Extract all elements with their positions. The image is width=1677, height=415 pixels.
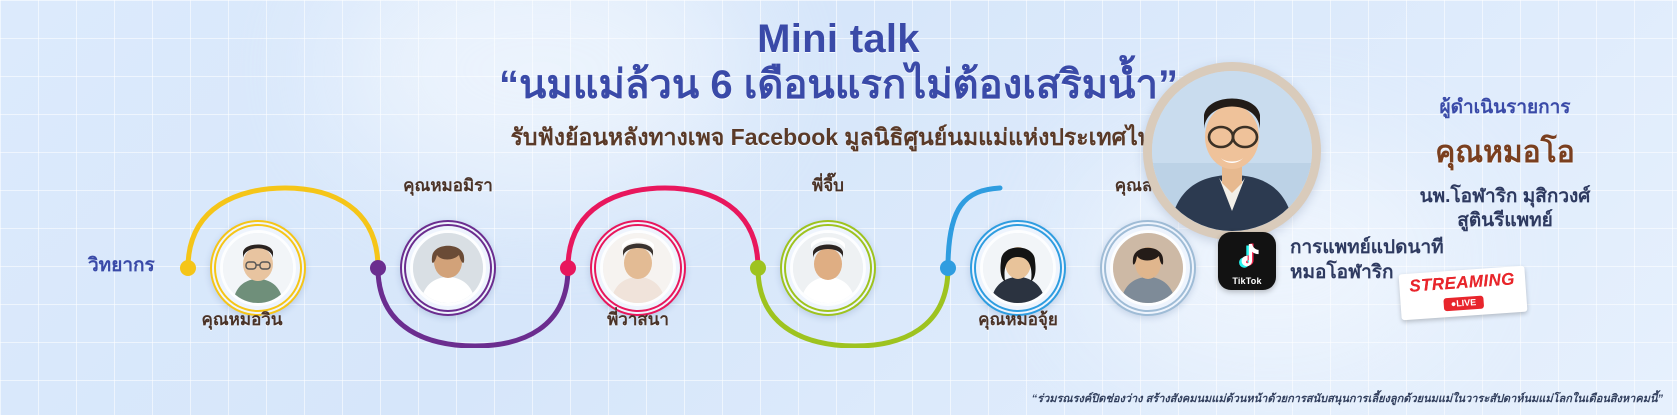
speaker-avatar-1 (220, 230, 296, 306)
event-banner: Mini talk “นมแม่ล้วน 6 เดือนแรกไม่ต้องเส… (0, 0, 1677, 415)
live-badge: ●LIVE (1443, 296, 1483, 312)
streaming-badge: STREAMING ●LIVE (1399, 266, 1528, 321)
social-channel-line1: การแพทย์แปดนาที (1290, 236, 1444, 261)
host-full-name: นพ.โอฬาริก มุสิกวงศ์ (1355, 185, 1655, 209)
host-avatar (1143, 62, 1321, 240)
speaker-avatar-2 (410, 230, 486, 306)
speaker-node-3[interactable] (590, 220, 686, 316)
portrait-icon (983, 233, 1053, 303)
speaker-node-6[interactable] (1100, 220, 1196, 316)
speaker-name-2: คุณหมอมิรา (348, 172, 548, 199)
portrait-icon (793, 233, 863, 303)
tiktok-label: TikTok (1232, 276, 1261, 286)
speaker-avatar-4 (790, 230, 866, 306)
tiktok-icon[interactable]: TikTok (1218, 232, 1276, 290)
title-main: Mini talk (0, 18, 1677, 60)
speaker-avatar-3 (600, 230, 676, 306)
host-portrait-icon (1152, 71, 1312, 231)
speaker-node-1[interactable] (210, 220, 306, 316)
tiktok-note-icon (1232, 242, 1262, 274)
speakers-timeline: วิทยากร (60, 178, 1090, 348)
banner-footnote: “ร่วมรณรงค์ปิดช่องว่าง สร้างสังคมนมแม่ด้… (830, 389, 1663, 407)
portrait-icon (223, 233, 293, 303)
speaker-avatar-5 (980, 230, 1056, 306)
host-info: ผู้ดำเนินรายการ คุณหมอโอ นพ.โอฬาริก มุสิ… (1355, 92, 1655, 234)
speaker-name-5: คุณหมอจุ้ย (918, 306, 1118, 333)
portrait-icon (1113, 233, 1183, 303)
speaker-avatar-6 (1110, 230, 1186, 306)
speaker-name-3: พี่วาสนา (538, 306, 738, 333)
host-name: คุณหมอโอ (1355, 129, 1655, 176)
speaker-node-4[interactable] (780, 220, 876, 316)
streaming-label: STREAMING (1409, 269, 1516, 296)
host-specialty: สูตินรีแพทย์ (1355, 209, 1655, 233)
host-role: ผู้ดำเนินรายการ (1355, 92, 1655, 122)
portrait-icon (603, 233, 673, 303)
portrait-icon (413, 233, 483, 303)
speaker-name-4: พี่จี๊บ (728, 172, 928, 199)
speaker-node-2[interactable] (400, 220, 496, 316)
speaker-name-1: คุณหมอวิน (142, 306, 342, 333)
speaker-node-5[interactable] (970, 220, 1066, 316)
